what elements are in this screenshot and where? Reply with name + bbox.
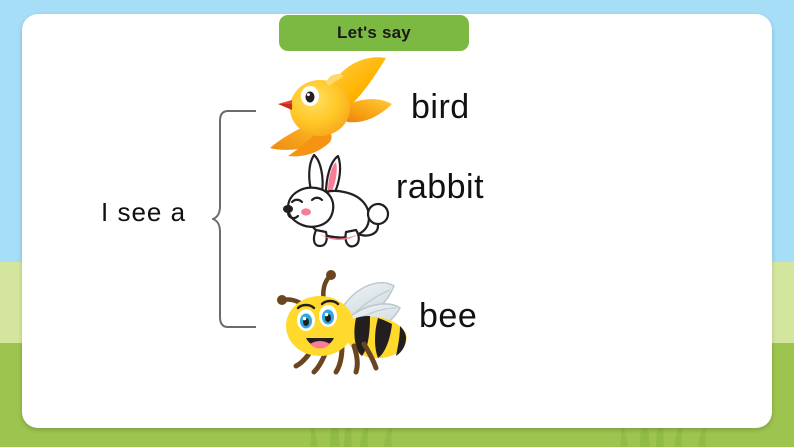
bird-illustration xyxy=(264,52,394,162)
word-label-rabbit: rabbit xyxy=(396,168,484,207)
slide-canvas: Let's say I see a xyxy=(0,0,794,447)
sentence-stem: I see a xyxy=(101,197,186,228)
word-label-bird: bird xyxy=(411,88,470,127)
curly-brace-icon xyxy=(212,108,256,330)
lets-say-chip[interactable]: Let's say xyxy=(279,15,469,51)
bee-illustration xyxy=(266,268,414,376)
lets-say-label: Let's say xyxy=(337,23,411,43)
word-label-bee: bee xyxy=(419,297,477,336)
rabbit-illustration xyxy=(268,152,398,252)
